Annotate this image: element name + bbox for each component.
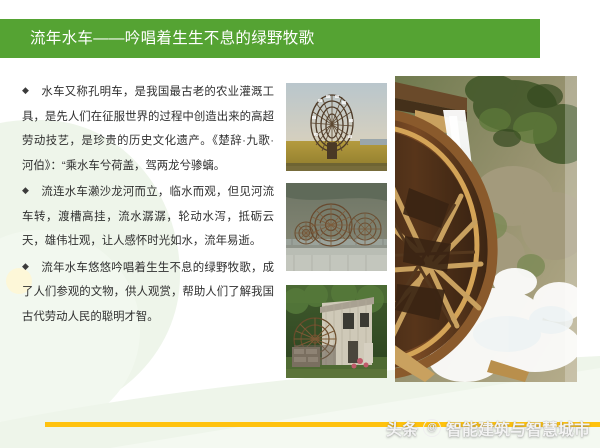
photo-wooden-mill-house	[286, 285, 387, 378]
body-text-column: ◆水车又称孔明车，是我国最古老的农业灌溉工具，是先人们在征服世界的过程中创造出来…	[22, 78, 274, 329]
at-symbol-icon: @	[423, 419, 441, 437]
paragraph-2-text: 流连水车濑沙龙河而立，临水而观，但见河流车转，渡槽高挂，流水潺潺，轮动水泻，抵砺…	[22, 186, 274, 247]
slide-canvas: 流年水车——吟唱着生生不息的绿野牧歌 ◆水车又称孔明车，是我国最古老的农业灌溉工…	[0, 0, 600, 448]
photo-tall-lanzhou-waterwheel	[286, 83, 387, 171]
paragraph-1-text: 水车又称孔明车，是我国最古老的农业灌溉工具，是先人们在征服世界的过程中创造出来的…	[22, 86, 274, 172]
photo-waterwheel-park-row	[286, 183, 387, 271]
footer-watermark: 头条 @ 智能建筑与智慧城市	[386, 416, 590, 440]
bullet-diamond-icon: ◆	[22, 185, 29, 195]
paragraph-3: ◆流年水车悠悠吟唱着生生不息的绿野牧歌，成了人们参观的文物，供人观赏，帮助人们了…	[22, 254, 274, 330]
page-title: 流年水车——吟唱着生生不息的绿野牧歌	[30, 31, 314, 47]
paragraph-3-text: 流年水车悠悠吟唱着生生不息的绿野牧歌，成了人们参观的文物，供人观赏，帮助人们了解…	[22, 262, 274, 323]
paragraph-2: ◆流连水车濑沙龙河而立，临水而观，但见河流车转，渡槽高挂，流水潺潺，轮动水泻，抵…	[22, 178, 274, 254]
footer-account-name: 智能建筑与智慧城市	[446, 416, 590, 440]
slide-title-bar: 流年水车——吟唱着生生不息的绿野牧歌	[0, 19, 540, 58]
paragraph-1: ◆水车又称孔明车，是我国最古老的农业灌溉工具，是先人们在征服世界的过程中创造出来…	[22, 78, 274, 178]
bullet-diamond-icon: ◆	[22, 85, 29, 95]
photo-flowing-water-wheel	[395, 76, 577, 382]
footer-platform-label: 头条	[386, 416, 418, 440]
bullet-diamond-icon: ◆	[22, 261, 29, 271]
